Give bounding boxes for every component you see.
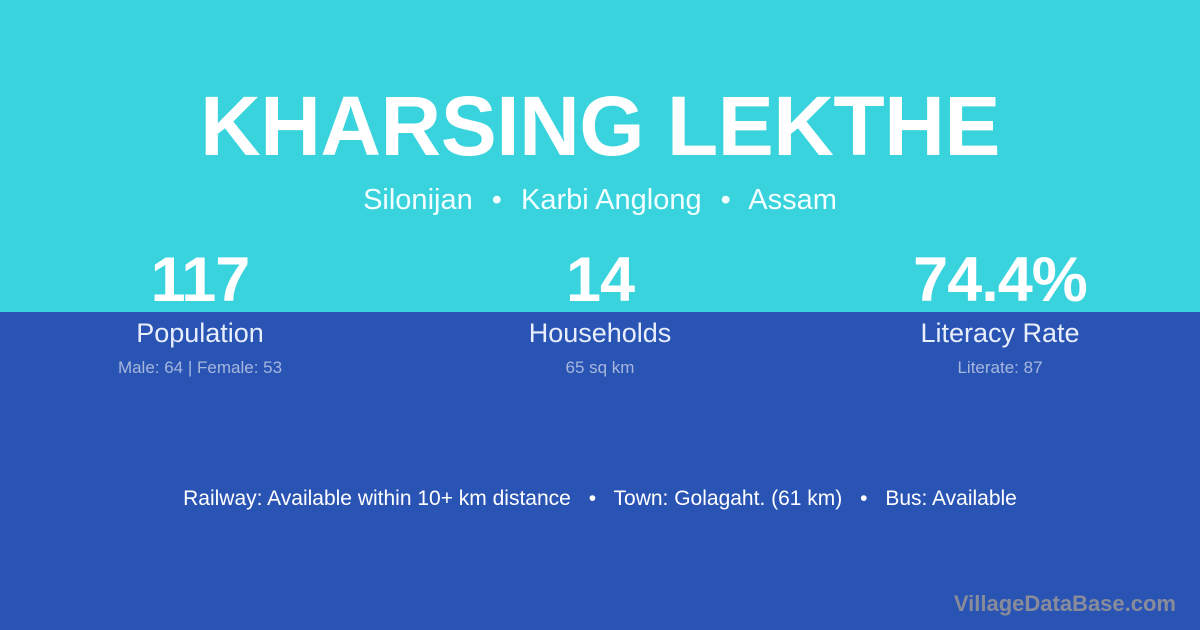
stat-literacy-rate: 74.4% Literacy Rate Literate: 87 (800, 246, 1200, 379)
stat-value: 117 (0, 246, 400, 314)
amenity-railway: Railway: Available within 10+ km distanc… (183, 487, 571, 510)
stat-label: Households (400, 316, 800, 350)
breadcrumb-state: Assam (748, 184, 837, 216)
breadcrumb-separator-icon: • (481, 182, 513, 218)
stats-row: 117 Population Male: 64 | Female: 53 14 … (0, 246, 1200, 379)
amenity-separator-icon: • (848, 484, 879, 514)
stat-value: 14 (400, 246, 800, 314)
stat-label: Population (0, 316, 400, 350)
amenity-town: Town: Golagaht. (61 km) (614, 487, 843, 510)
stat-households: 14 Households 65 sq km (400, 246, 800, 379)
breadcrumb: Silonijan • Karbi Anglong • Assam (0, 182, 1200, 218)
stat-label: Literacy Rate (800, 316, 1200, 350)
site-watermark: VillageDataBase.com (954, 590, 1176, 618)
page-title: KHARSING LEKTHE (0, 78, 1200, 174)
stat-population: 117 Population Male: 64 | Female: 53 (0, 246, 400, 379)
stat-sublabel: Male: 64 | Female: 53 (0, 357, 400, 379)
stat-sublabel: 65 sq km (400, 357, 800, 379)
amenity-separator-icon: • (577, 484, 608, 514)
village-info-card: KHARSING LEKTHE Silonijan • Karbi Anglon… (0, 0, 1200, 630)
stat-value: 74.4% (800, 246, 1200, 314)
breadcrumb-district: Karbi Anglong (521, 184, 702, 216)
amenities-line: Railway: Available within 10+ km distanc… (0, 484, 1200, 514)
stat-sublabel: Literate: 87 (800, 357, 1200, 379)
breadcrumb-block: Silonijan (363, 184, 473, 216)
breadcrumb-separator-icon: • (710, 182, 742, 218)
amenity-bus: Bus: Available (885, 487, 1017, 510)
